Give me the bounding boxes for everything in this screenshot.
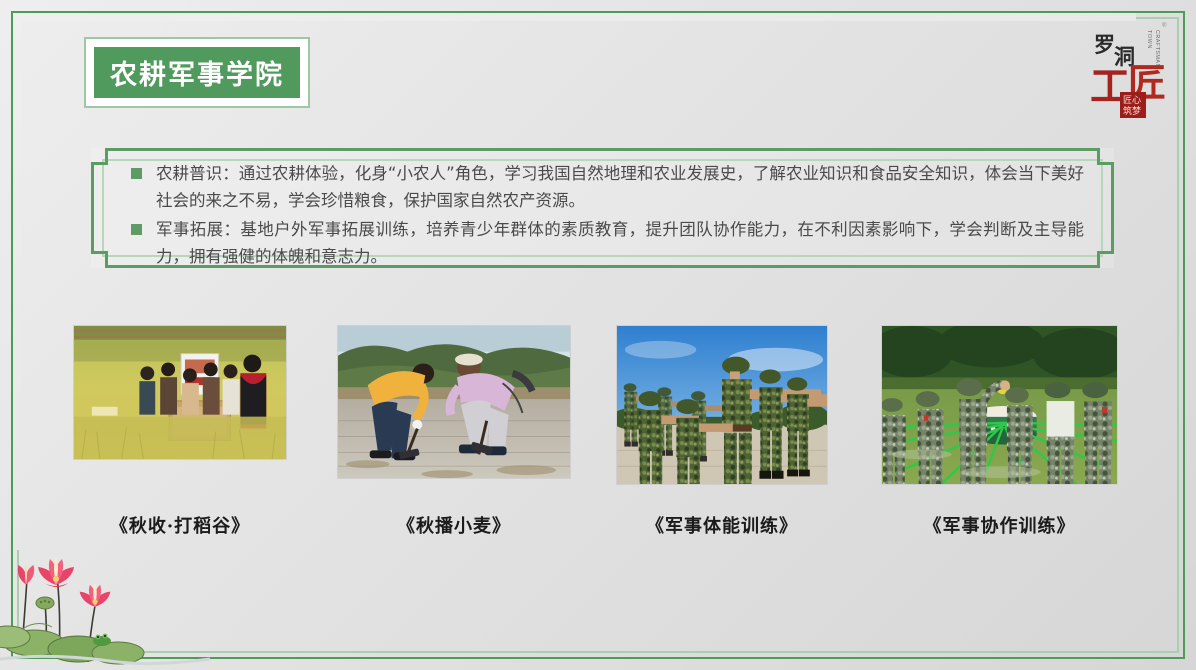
lotus-flower-decoration (0, 545, 210, 670)
page-title-plate: 农耕军事学院 (84, 37, 310, 108)
photo-wheat-sowing (337, 325, 571, 479)
frame-mask-left (13, 13, 21, 550)
bullet-item-text: 农耕普识：通过农耕体验，化身“小农人”角色，学习我国自然地理和农业发展史，了解农… (156, 160, 1084, 214)
bullet-item: 农耕普识：通过农耕体验，化身“小农人”角色，学习我国自然地理和农业发展史，了解农… (131, 160, 1084, 214)
photo-rice-harvest (73, 325, 287, 460)
description-panel: 农耕普识：通过农耕体验，化身“小农人”角色，学习我国自然地理和农业发展史，了解农… (91, 148, 1114, 268)
bullet-item: 军事拓展：基地户外军事拓展训练，培养青少年群体的素质教育，提升团队协作能力，在不… (131, 216, 1084, 270)
panel-inner-border-right (1101, 159, 1103, 257)
panel-corner-top-left-v (105, 148, 108, 165)
frame-mask-top (13, 13, 1136, 21)
gallery-caption: 《军事体能训练》 (616, 512, 828, 538)
gallery-caption: 《秋播小麦》 (337, 512, 571, 538)
gallery-caption: 《秋收·打稻谷》 (73, 512, 287, 538)
square-bullet-icon (131, 168, 142, 179)
gallery-card: 《军事协作训练》 (881, 325, 1118, 538)
panel-corner-bottom-left-v (105, 251, 108, 268)
gallery-card: 《秋收·打稻谷》 (73, 325, 287, 538)
svg-text:匠心: 匠心 (1123, 95, 1141, 106)
svg-text:筑梦: 筑梦 (1123, 105, 1141, 117)
page-title: 农耕军事学院 (110, 53, 284, 92)
panel-border-left (91, 162, 94, 254)
bullet-item-text: 军事拓展：基地户外军事拓展训练，培养青少年群体的素质教育，提升团队协作能力，在不… (156, 216, 1084, 270)
svg-text:TOWN: TOWN (1146, 30, 1152, 49)
photo-military-teamwork (881, 325, 1118, 485)
panel-border-top (105, 148, 1100, 151)
slide-canvas: TOWN CRAFTSMAN ® 罗 洞 工 匠 匠心 筑梦 农耕军事学院 (0, 0, 1196, 670)
panel-corner-bottom-right-v (1097, 251, 1100, 268)
bullet-list: 农耕普识：通过农耕体验，化身“小农人”角色，学习我国自然地理和农业发展史，了解农… (131, 160, 1084, 272)
panel-inner-border-left (102, 159, 104, 257)
page-title-fill: 农耕军事学院 (94, 47, 300, 98)
gallery-card: 《军事体能训练》 (616, 325, 828, 538)
panel-corner-top-right-v (1097, 148, 1100, 165)
brand-logo: TOWN CRAFTSMAN ® 罗 洞 工 匠 匠心 筑梦 (1088, 18, 1174, 122)
gallery-card: 《秋播小麦》 (337, 325, 571, 538)
panel-border-right (1111, 162, 1114, 254)
svg-text:®: ® (1162, 22, 1167, 29)
photo-military-fitness (616, 325, 828, 485)
square-bullet-icon (131, 224, 142, 235)
svg-text:罗: 罗 (1094, 32, 1115, 57)
gallery-caption: 《军事协作训练》 (881, 512, 1118, 538)
